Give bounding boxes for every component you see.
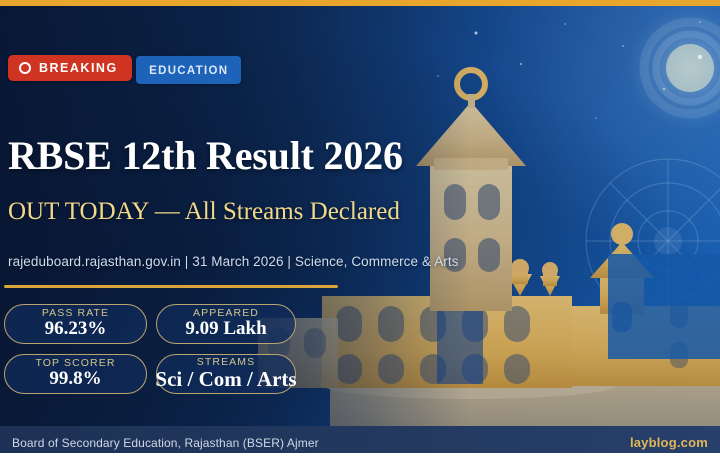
gold-divider <box>4 285 338 288</box>
banner-canvas: BREAKING EDUCATION RBSE 12th Result 2026… <box>0 6 720 453</box>
stats-row-2: TOP SCORER 99.8% STREAMS Sci / Com / Art… <box>4 354 464 394</box>
stats-group: PASS RATE 96.23% APPEARED 9.09 Lakh TOP … <box>4 304 464 404</box>
breaking-badge: BREAKING <box>8 55 132 81</box>
subheadline: OUT TODAY — All Streams Declared <box>8 199 400 224</box>
stat-pill-appeared: APPEARED 9.09 Lakh <box>156 304 296 344</box>
stat-pill-streams: STREAMS Sci / Com / Arts <box>156 354 296 394</box>
stats-row-1: PASS RATE 96.23% APPEARED 9.09 Lakh <box>4 304 464 344</box>
stat-pill-top-scorer: TOP SCORER 99.8% <box>4 354 147 394</box>
badge-group: BREAKING EDUCATION <box>8 46 241 84</box>
stat-value: 9.09 Lakh <box>185 319 266 340</box>
footer-credit: Board of Secondary Education, Rajasthan … <box>12 436 319 450</box>
bottom-white-strip <box>0 453 720 475</box>
footer-bar: Board of Secondary Education, Rajasthan … <box>0 426 720 453</box>
stat-pill-pass-rate: PASS RATE 96.23% <box>4 304 147 344</box>
breaking-badge-label: BREAKING <box>39 61 118 75</box>
footer-site-watermark: layblog.com <box>630 435 708 450</box>
broadcast-ring-icon <box>19 62 31 74</box>
headline: RBSE 12th Result 2026 <box>8 136 403 176</box>
meta-line: rajeduboard.rajasthan.gov.in | 31 March … <box>8 254 459 269</box>
stat-value: 99.8% <box>49 369 101 390</box>
stat-value: 96.23% <box>45 319 107 340</box>
content-layer: BREAKING EDUCATION RBSE 12th Result 2026… <box>0 6 720 453</box>
education-badge-label: EDUCATION <box>149 65 228 77</box>
stat-value: Sci / Com / Arts <box>155 368 296 391</box>
banner-graphic: BREAKING EDUCATION RBSE 12th Result 2026… <box>0 0 720 475</box>
education-badge: EDUCATION <box>136 56 241 84</box>
